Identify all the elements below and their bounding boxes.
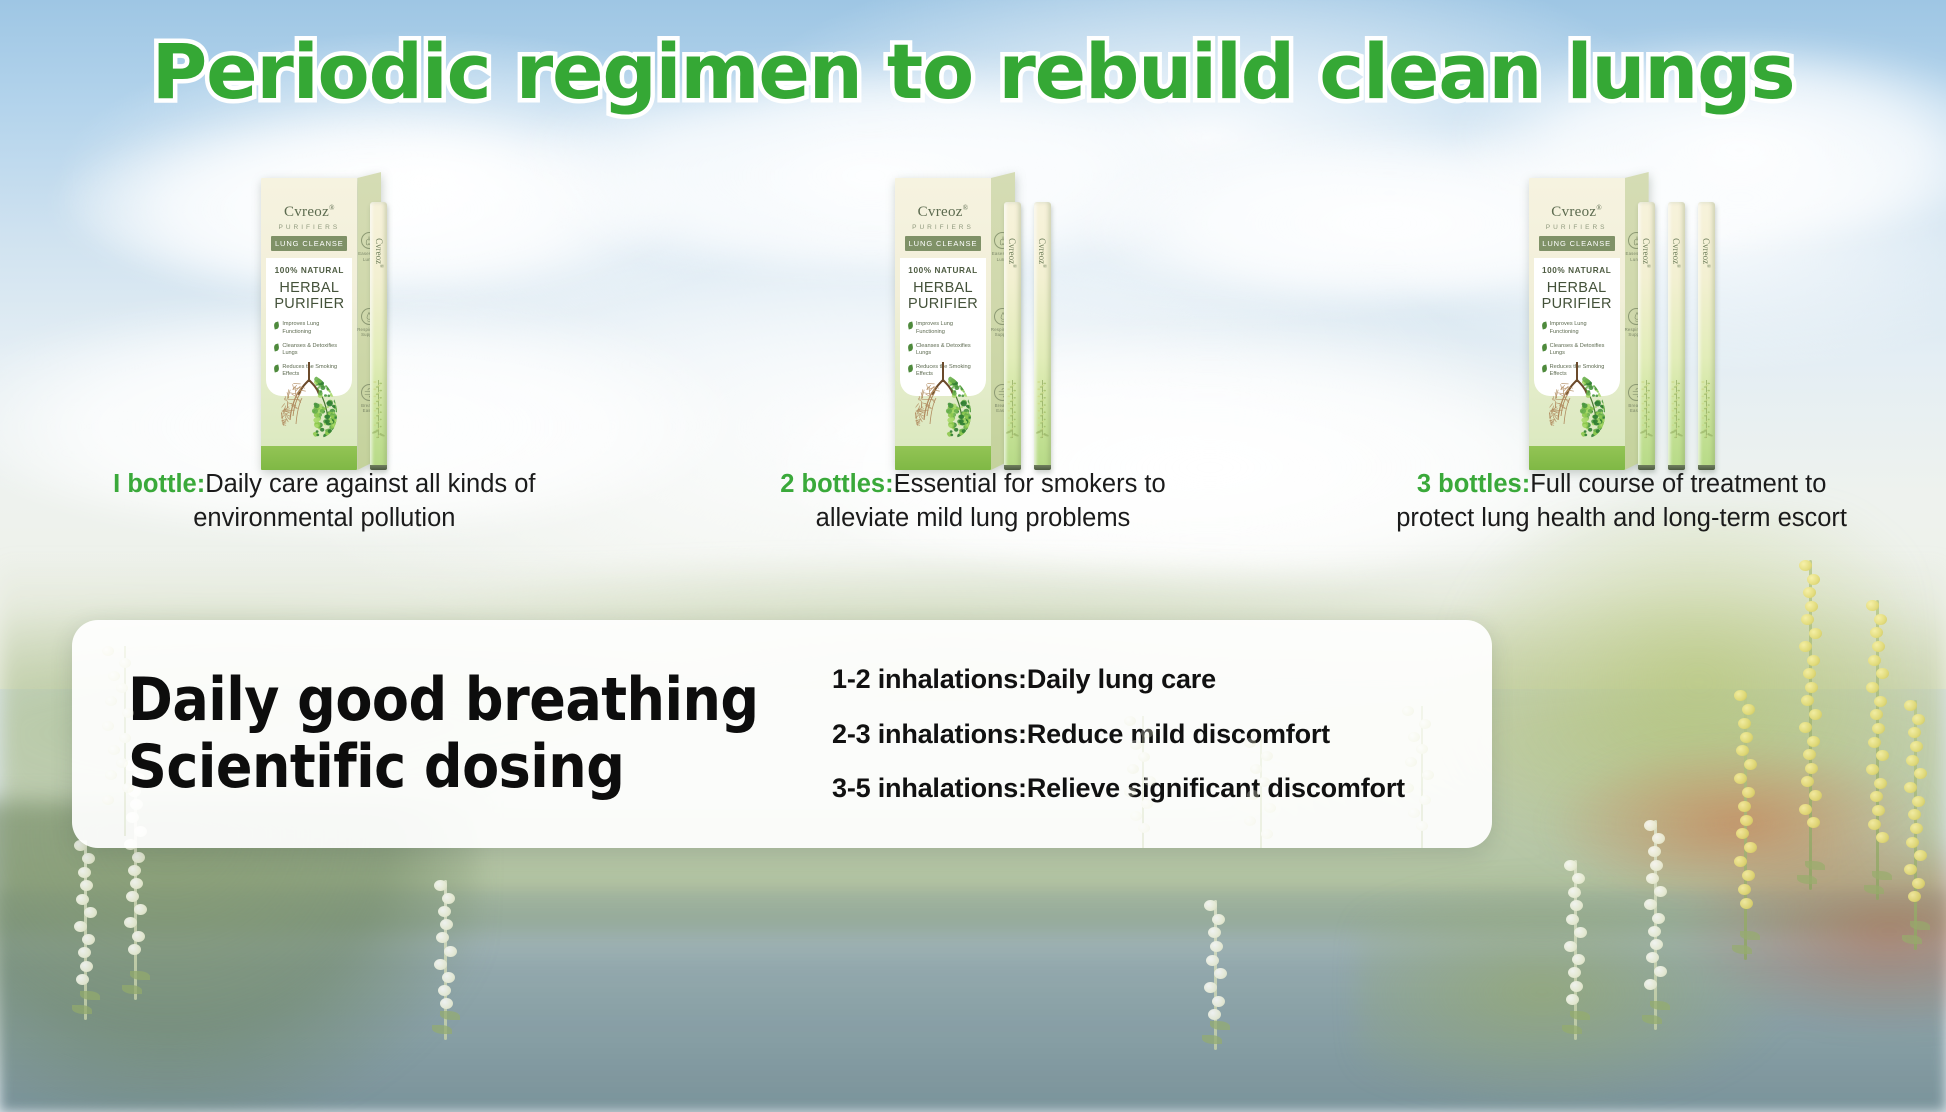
card-flower-decoration xyxy=(90,646,160,836)
mullein-flower-spike xyxy=(1640,820,1670,1030)
dosing-item: 1-2 inhalations:Daily lung care xyxy=(832,663,1464,696)
inhaler-stick: Cvreoz® xyxy=(1034,202,1051,470)
product-box: Cvreoz®PURIFIERSLUNG CLEANSE100% NATURAL… xyxy=(1529,172,1625,470)
inhaler-brand-label: Cvreoz® xyxy=(1007,238,1017,268)
inhaler-brand-label: Cvreoz® xyxy=(1037,238,1047,268)
product-name-line-2: PURIFIER xyxy=(1542,296,1612,312)
benefit-bullet-text: Cleanses & Detoxifies Lungs xyxy=(916,343,978,357)
card-flower-decoration xyxy=(1232,738,1290,848)
leaf-icon xyxy=(1541,322,1547,330)
natural-claim: 100% NATURAL xyxy=(1542,266,1612,275)
registered-mark: ® xyxy=(1596,204,1602,212)
inhaler-stick: Cvreoz® xyxy=(1004,202,1021,470)
benefit-bullet-text: Cleanses & Detoxifies Lungs xyxy=(282,343,344,357)
benefit-bullet: Cleanses & Detoxifies Lungs xyxy=(908,343,978,357)
mullein-sprig-icon xyxy=(1699,376,1714,442)
mullein-flower-spike xyxy=(1560,860,1590,1040)
registered-mark: ® xyxy=(1645,264,1650,268)
brand-subtitle: PURIFIERS xyxy=(1529,224,1625,231)
inhaler-brand-label: Cvreoz® xyxy=(374,238,384,268)
inhaler-brand-label: Cvreoz® xyxy=(1671,238,1681,268)
leaf-icon xyxy=(274,343,280,351)
mullein-sprig-icon xyxy=(1005,376,1020,442)
product-stage: Cvreoz®PURIFIERSLUNG CLEANSE100% NATURAL… xyxy=(1342,150,1902,470)
lung-cleanse-badge: LUNG CLEANSE xyxy=(271,236,347,251)
natural-claim: 100% NATURAL xyxy=(274,266,344,275)
product-box-front: Cvreoz®PURIFIERSLUNG CLEANSE100% NATURAL… xyxy=(895,178,991,470)
group-caption-lead: 2 bottles: xyxy=(780,470,893,498)
box-footer-band xyxy=(895,446,991,470)
leaf-icon xyxy=(274,322,280,330)
benefit-bullet: Cleanses & Detoxifies Lungs xyxy=(274,343,344,357)
product-stage: Cvreoz®PURIFIERSLUNG CLEANSE100% NATURAL… xyxy=(693,150,1253,470)
product-box-front: Cvreoz®PURIFIERSLUNG CLEANSE100% NATURAL… xyxy=(1529,178,1625,470)
lung-cleanse-badge: LUNG CLEANSE xyxy=(905,236,981,251)
registered-mark: ® xyxy=(1705,264,1710,268)
brand-name: Cvreoz® xyxy=(895,204,991,221)
product-name-line-1: HERBAL xyxy=(908,280,978,296)
benefit-bullet-text: Improves Lung Functioning xyxy=(1550,321,1612,335)
lung-cleanse-badge: LUNG CLEANSE xyxy=(1539,236,1615,251)
product-box-front: Cvreoz®PURIFIERSLUNG CLEANSE100% NATURAL… xyxy=(261,178,357,470)
leaf-icon xyxy=(1541,343,1547,351)
card-headline-line-1: Daily good breathing xyxy=(128,667,832,734)
benefit-bullet-text: Cleanses & Detoxifies Lungs xyxy=(1550,343,1612,357)
mullein-flower-spike xyxy=(1730,690,1760,960)
mullein-sprig-icon xyxy=(1035,376,1050,442)
group-caption: 3 bottles:Full course of treatment to pr… xyxy=(1342,468,1902,535)
benefit-bullet: Improves Lung Functioning xyxy=(1542,321,1612,335)
registered-mark: ® xyxy=(1011,264,1016,268)
product-name-line-1: HERBAL xyxy=(1542,280,1612,296)
product-name-line-2: PURIFIER xyxy=(274,296,344,312)
registered-mark: ® xyxy=(1041,264,1046,268)
benefit-bullet-text: Improves Lung Functioning xyxy=(282,321,344,335)
group-caption-lead: 3 bottles: xyxy=(1417,470,1530,498)
benefit-bullet: Improves Lung Functioning xyxy=(274,321,344,335)
group-caption: I bottle:Daily care against all kinds of… xyxy=(44,468,604,535)
product-box: Cvreoz®PURIFIERSLUNG CLEANSE100% NATURAL… xyxy=(261,172,357,470)
registered-mark: ® xyxy=(378,264,383,268)
inhaler-stick: Cvreoz® xyxy=(1698,202,1715,470)
mullein-sprig-icon xyxy=(371,376,386,442)
inhaler-brand-label: Cvreoz® xyxy=(1641,238,1651,268)
inhaler-stick: Cvreoz® xyxy=(370,202,387,470)
registered-mark: ® xyxy=(329,204,335,212)
mullein-flower-spike xyxy=(1900,700,1930,950)
product-box: Cvreoz®PURIFIERSLUNG CLEANSE100% NATURAL… xyxy=(895,172,991,470)
inhaler-brand-label: Cvreoz® xyxy=(1701,238,1711,268)
group-3-bottles: Cvreoz®PURIFIERSLUNG CLEANSE100% NATURAL… xyxy=(1342,150,1902,610)
card-flower-decoration xyxy=(1390,706,1454,848)
card-headline-line-2: Scientific dosing xyxy=(128,734,832,801)
box-footer-band xyxy=(261,446,357,470)
inhaler-stick: Cvreoz® xyxy=(1668,202,1685,470)
brand-name: Cvreoz® xyxy=(261,204,357,221)
page-title: Periodic regimen to rebuild clean lungs xyxy=(0,34,1946,110)
product-stage: Cvreoz®PURIFIERSLUNG CLEANSE100% NATURAL… xyxy=(44,150,604,470)
group-2-bottles: Cvreoz®PURIFIERSLUNG CLEANSE100% NATURAL… xyxy=(693,150,1253,610)
registered-mark: ® xyxy=(963,204,969,212)
box-footer-band xyxy=(1529,446,1625,470)
brand-name: Cvreoz® xyxy=(1529,204,1625,221)
leaf-icon xyxy=(907,343,913,351)
benefit-bullet-text: Improves Lung Functioning xyxy=(916,321,978,335)
mullein-flower-spike xyxy=(1200,900,1230,1050)
group-caption-text: Daily care against all kinds of environm… xyxy=(193,470,535,532)
inhaler-stick: Cvreoz® xyxy=(1638,202,1655,470)
group-caption: 2 bottles:Essential for smokers to allev… xyxy=(693,468,1253,535)
lung-tree-illustration xyxy=(261,358,357,444)
card-headline: Daily good breathing Scientific dosing xyxy=(72,667,832,801)
lung-tree-illustration xyxy=(895,358,991,444)
product-name: HERBALPURIFIER xyxy=(274,280,344,312)
mullein-sprig-icon xyxy=(1669,376,1684,442)
benefit-bullet: Improves Lung Functioning xyxy=(908,321,978,335)
lung-tree-illustration xyxy=(1529,358,1625,444)
benefit-bullet: Cleanses & Detoxifies Lungs xyxy=(1542,343,1612,357)
brand-word: Cvreoz xyxy=(1551,204,1596,220)
product-name-line-2: PURIFIER xyxy=(908,296,978,312)
brand-subtitle: PURIFIERS xyxy=(895,224,991,231)
product-name: HERBALPURIFIER xyxy=(908,280,978,312)
group-caption-lead: I bottle: xyxy=(113,470,205,498)
card-flower-decoration xyxy=(1112,716,1174,848)
brand-subtitle: PURIFIERS xyxy=(261,224,357,231)
natural-claim: 100% NATURAL xyxy=(908,266,978,275)
product-groups-row: Cvreoz®PURIFIERSLUNG CLEANSE100% NATURAL… xyxy=(0,150,1946,610)
group-1-bottle: Cvreoz®PURIFIERSLUNG CLEANSE100% NATURAL… xyxy=(44,150,604,610)
leaf-icon xyxy=(907,322,913,330)
product-name-line-1: HERBAL xyxy=(274,280,344,296)
dosing-card: Daily good breathing Scientific dosing 1… xyxy=(72,620,1492,848)
mullein-sprig-icon xyxy=(1639,376,1654,442)
mullein-flower-spike xyxy=(1862,600,1892,900)
brand-word: Cvreoz xyxy=(284,204,329,220)
registered-mark: ® xyxy=(1675,264,1680,268)
mullein-flower-spike xyxy=(70,840,100,1020)
brand-word: Cvreoz xyxy=(918,204,963,220)
product-name: HERBALPURIFIER xyxy=(1542,280,1612,312)
mullein-flower-spike xyxy=(430,880,460,1040)
